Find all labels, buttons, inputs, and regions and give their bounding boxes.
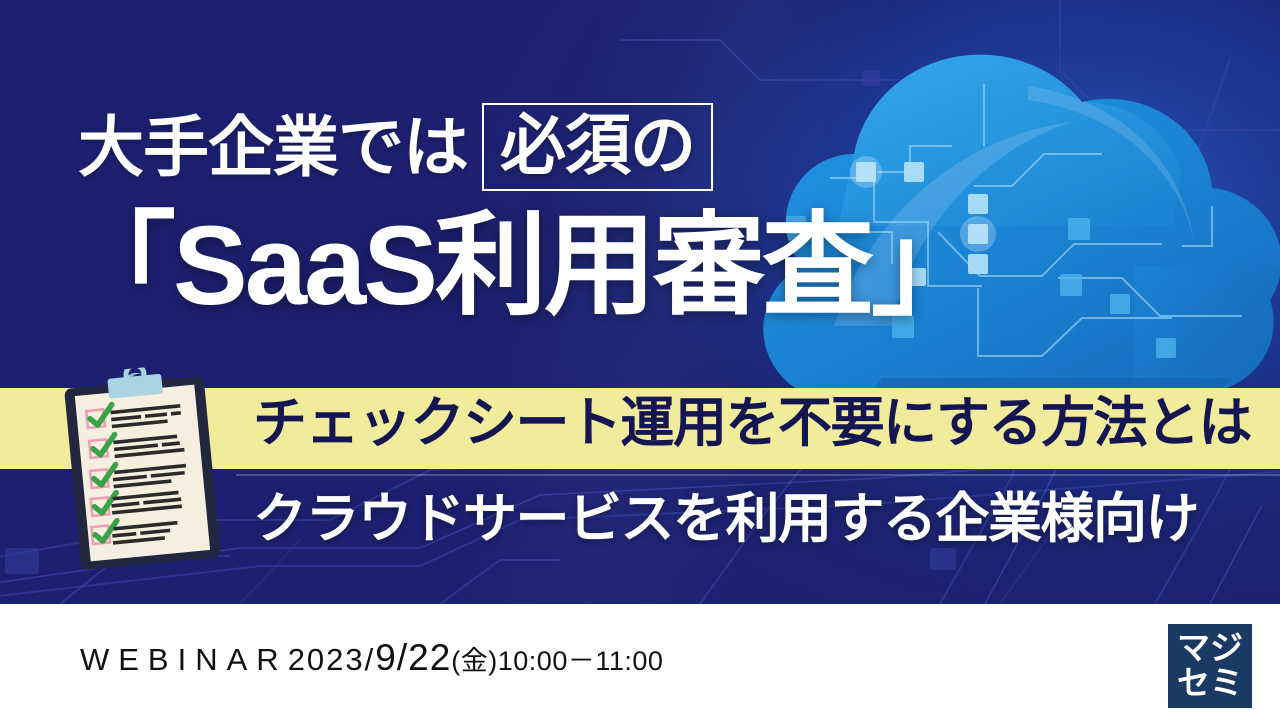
divider-line	[236, 474, 1280, 476]
logo-line-2: セミ	[1177, 666, 1243, 701]
subtitle: クラウドサービスを利用する企業様向け	[253, 492, 1198, 546]
title-line-1: 大手企業では 必須の	[78, 99, 713, 195]
title-line-1-plain: 大手企業では	[78, 114, 468, 180]
webinar-day: 22	[408, 637, 451, 678]
webinar-datetime: WEBINAR2023/9/22(金)10:00－11:00	[80, 639, 663, 676]
title-line-2: 「SaaS利用審査」	[64, 210, 980, 322]
majisemi-logo[interactable]: マジ セミ	[1168, 624, 1252, 708]
clipboard-checklist-icon	[57, 361, 227, 575]
webinar-banner: 大手企業では 必須の 「SaaS利用審査」 チェックシート運用を不要にする方法と…	[0, 0, 1280, 720]
title-line-1-boxed: 必須の	[482, 103, 713, 191]
webinar-year-month: 2023/	[288, 642, 376, 677]
webinar-label: WEBINAR	[80, 642, 288, 677]
band-headline: チェックシート運用を不要にする方法とは	[253, 396, 1251, 450]
webinar-month: 9	[375, 637, 397, 678]
webinar-slash: /	[397, 637, 408, 678]
webinar-time: 10:00－11:00	[498, 646, 664, 676]
webinar-weekday: (金)	[451, 646, 497, 676]
logo-line-1: マジ	[1177, 631, 1243, 666]
